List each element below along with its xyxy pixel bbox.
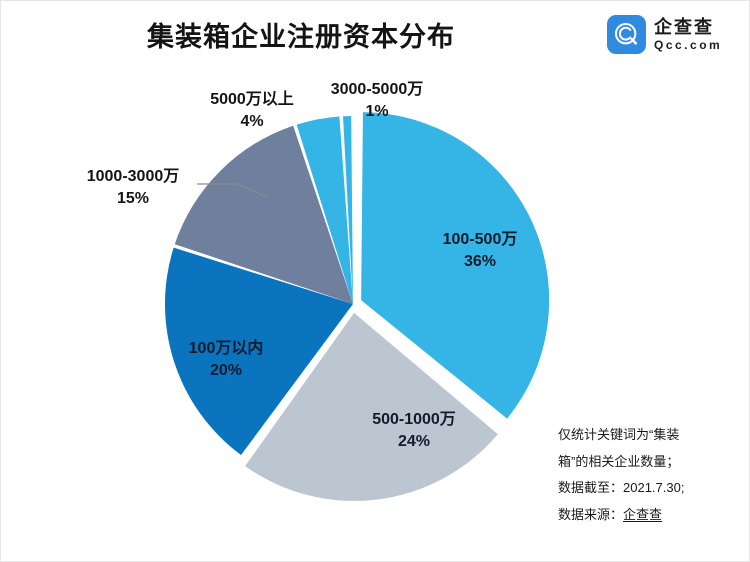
slice-label-value: 20% bbox=[156, 360, 296, 382]
slice-label-5000-above: 5000万以上 4% bbox=[187, 89, 317, 132]
slice-label-value: 15% bbox=[63, 188, 203, 210]
slice-label-name: 100-500万 bbox=[405, 229, 555, 251]
slice-label-500-1000: 500-1000万 24% bbox=[339, 409, 489, 452]
footnote: 仅统计关键词为“集装 箱”的相关企业数量； 数据截至：2021.7.30; 数据… bbox=[558, 422, 748, 529]
chart-page: 集装箱企业注册资本分布 企查查 Qcc.com 5000万以上 4% 3000-… bbox=[0, 0, 750, 562]
footnote-source-prefix: 数据来源： bbox=[558, 507, 623, 522]
slice-label-value: 1% bbox=[309, 101, 445, 123]
slice-label-3000-5000: 3000-5000万 1% bbox=[309, 79, 445, 122]
slice-label-1000-3000: 1000-3000万 15% bbox=[63, 166, 203, 209]
slice-label-value: 4% bbox=[187, 111, 317, 133]
footnote-line-2: 箱”的相关企业数量； bbox=[558, 449, 748, 476]
footnote-line-1: 仅统计关键词为“集装 bbox=[558, 422, 748, 449]
slice-label-name: 3000-5000万 bbox=[309, 79, 445, 101]
footnote-line-4: 数据来源：企查查 bbox=[558, 502, 748, 529]
slice-label-value: 36% bbox=[405, 251, 555, 273]
slice-label-name: 5000万以上 bbox=[187, 89, 317, 111]
slice-label-value: 24% bbox=[339, 431, 489, 453]
slice-label-name: 1000-3000万 bbox=[63, 166, 203, 188]
slice-label-name: 500-1000万 bbox=[339, 409, 489, 431]
slice-label-100-within: 100万以内 20% bbox=[156, 338, 296, 381]
footnote-line-3: 数据截至：2021.7.30; bbox=[558, 475, 748, 502]
slice-label-name: 100万以内 bbox=[156, 338, 296, 360]
footnote-source-name[interactable]: 企查查 bbox=[623, 507, 662, 522]
slice-label-100-500: 100-500万 36% bbox=[405, 229, 555, 272]
